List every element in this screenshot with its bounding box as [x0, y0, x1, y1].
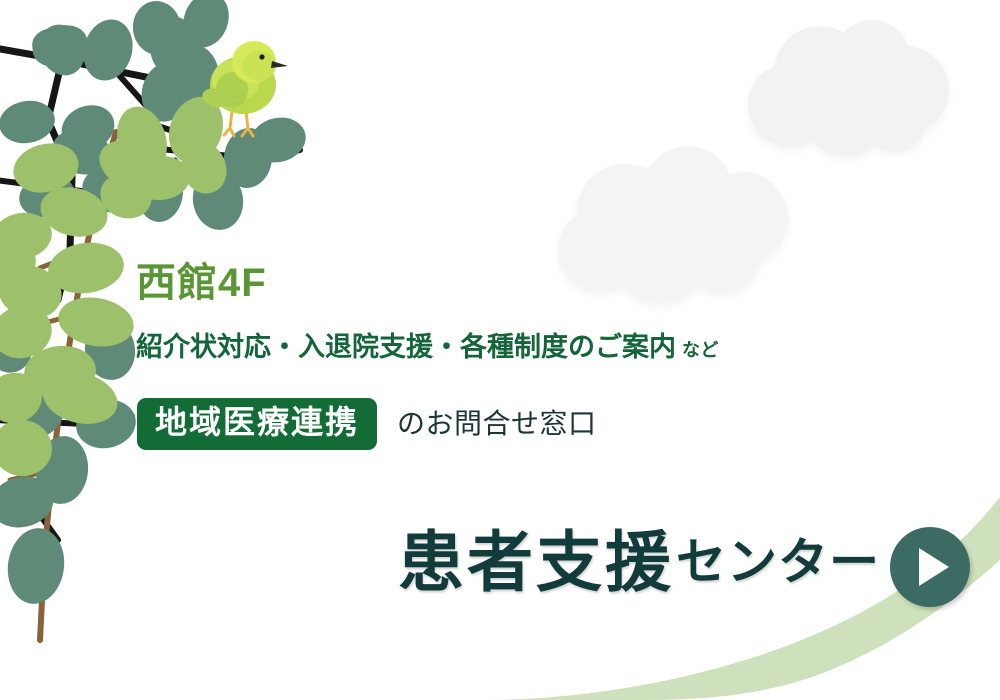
bird-tail [200, 85, 230, 110]
services-summary-etc: など [682, 340, 719, 360]
patient-support-center-title: 患者支援センター [398, 528, 880, 597]
play-triangle-icon [919, 548, 949, 586]
bird-beak [271, 61, 288, 68]
signage-banner: 西館4F 紹介状対応・入退院支援・各種制度のご案内など 地域医療連携 のお問合せ… [0, 0, 1000, 700]
cloud-upper-right [748, 20, 949, 156]
inquiry-desk-row: 地域医療連携 のお問合せ窓口 [137, 398, 597, 450]
bird-body [210, 56, 276, 114]
bird-eye [259, 54, 264, 59]
bird-body-highlight [212, 59, 260, 101]
brown-twigs [10, 132, 116, 640]
services-summary-text: 紹介状対応・入退院支援・各種制度のご案内 [136, 332, 676, 362]
bird-head-shade [242, 51, 276, 81]
bird-head [232, 41, 276, 83]
perched-bird-illustration [200, 41, 288, 136]
bird-legs [224, 112, 253, 136]
bird-wing [216, 72, 248, 108]
inquiry-desk-label: のお問合せ窓口 [397, 409, 597, 440]
cloud-lower-left-of-pair [558, 146, 788, 304]
services-summary: 紹介状対応・入退院支援・各種制度のご案内など [136, 332, 719, 363]
regional-medical-cooperation-badge: 地域医療連携 [137, 398, 377, 450]
patient-support-center-title-kanji: 患者支援 [398, 528, 674, 597]
play-button[interactable] [890, 527, 970, 607]
patient-support-center-title-kana: センター [676, 536, 880, 589]
floor-label: 西館4F [136, 262, 267, 304]
